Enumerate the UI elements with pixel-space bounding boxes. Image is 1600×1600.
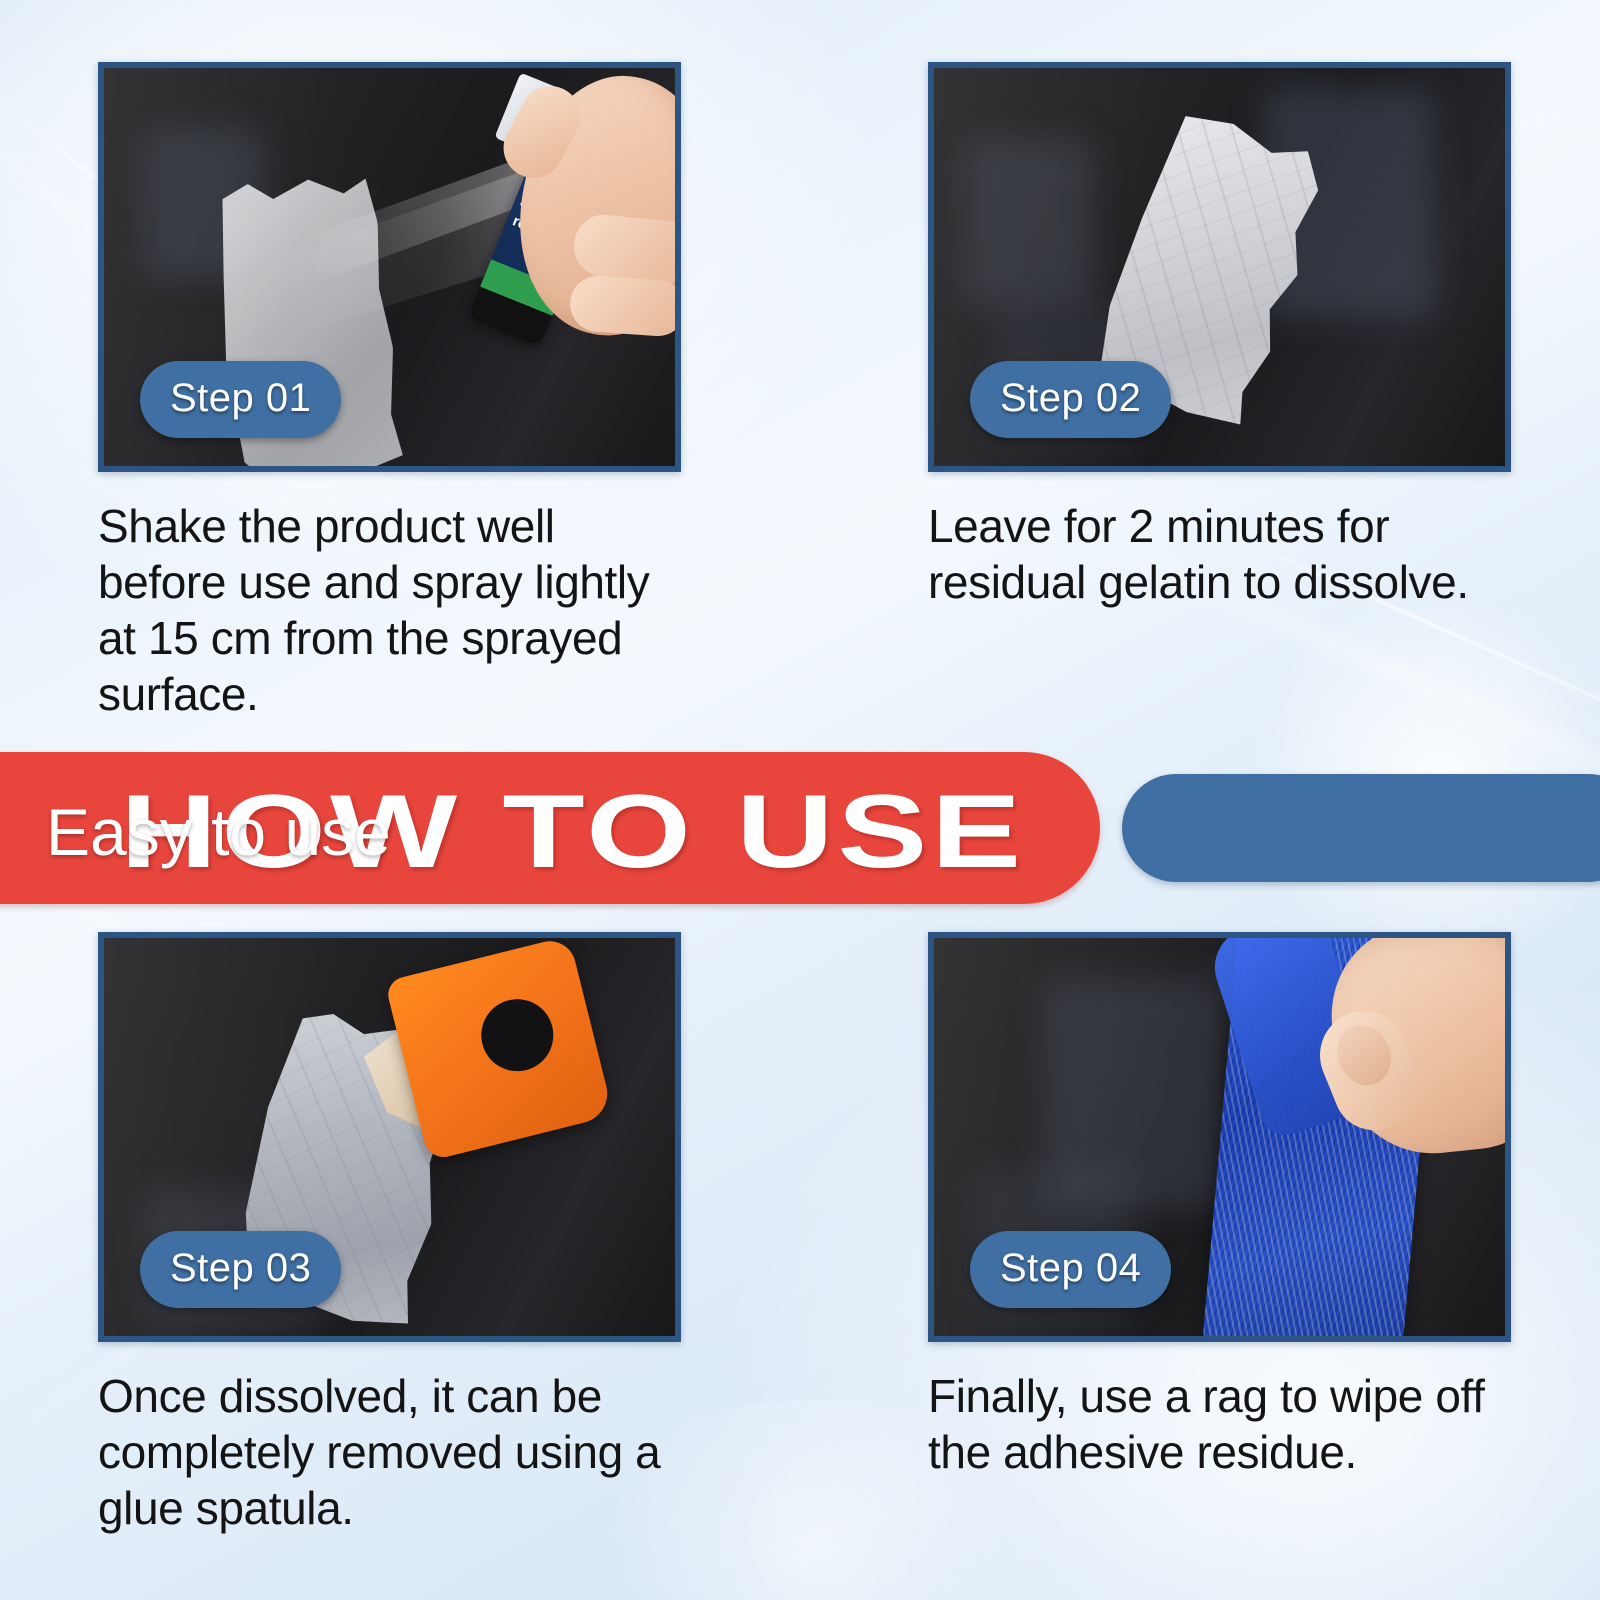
background-blob (964, 138, 1094, 308)
step-photo-01: adhesi remov Step 01 (98, 62, 681, 472)
step-caption-03: Once dissolved, it can be completely rem… (98, 1368, 681, 1536)
step-caption-02: Leave for 2 minutes for residual gelatin… (928, 498, 1511, 610)
step-caption-04: Finally, use a rag to wipe off the adhes… (928, 1368, 1511, 1480)
step-photo-02: Step 02 (928, 62, 1511, 472)
step-card-03: Step 03 Once dissolved, it can be comple… (98, 932, 681, 1536)
step-badge-01: Step 01 (140, 361, 341, 438)
spatula-hole (474, 992, 561, 1079)
step-caption-01: Shake the product well before use and sp… (98, 498, 681, 722)
banner-row: HOW TO USE Easy to use (0, 752, 1600, 912)
easy-to-use-label: Easy to use (46, 799, 391, 865)
step-card-02: Step 02 Leave for 2 minutes for residual… (928, 62, 1511, 610)
finger (568, 274, 681, 338)
infographic-page: adhesi remov Step 01 Shake the product w… (0, 0, 1600, 1600)
step-photo-03: Step 03 (98, 932, 681, 1342)
step-card-04: Step 04 Finally, use a rag to wipe off t… (928, 932, 1511, 1480)
step-badge-02: Step 02 (970, 361, 1171, 438)
step-badge-04: Step 04 (970, 1231, 1171, 1308)
step-badge-03: Step 03 (140, 1231, 341, 1308)
step-photo-04: Step 04 (928, 932, 1511, 1342)
easy-to-use-badge (1122, 774, 1600, 882)
step-card-01: adhesi remov Step 01 Shake the product w… (98, 62, 681, 722)
